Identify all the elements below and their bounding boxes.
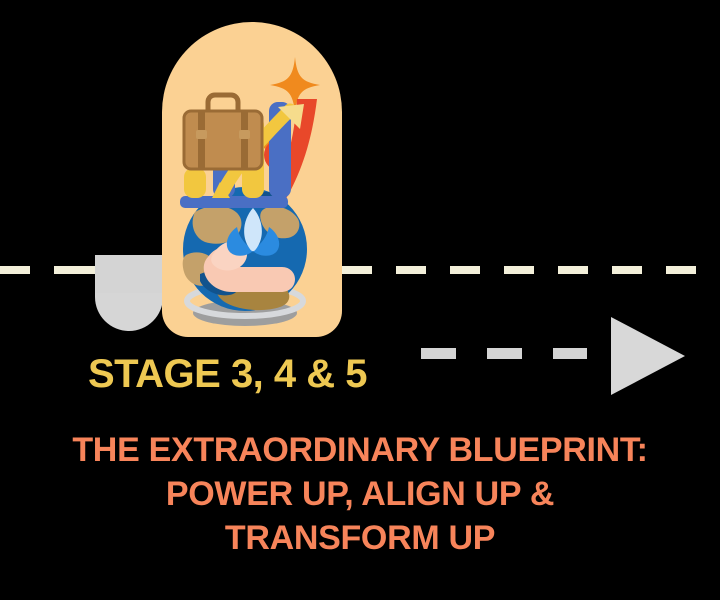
headline-line-1: THE EXTRAORDINARY BLUEPRINT: (0, 428, 720, 472)
gray-dash-2 (487, 348, 522, 359)
stage-illustration-card (162, 22, 342, 337)
headline-line-3: TRANSFORM UP (0, 516, 720, 560)
gray-dash-1 (421, 348, 456, 359)
headline: THE EXTRAORDINARY BLUEPRINT: POWER UP, A… (0, 428, 720, 560)
forward-arrow-icon (611, 317, 685, 395)
gray-dash-3 (553, 348, 587, 359)
globe-briefcase-growth-illustration (162, 22, 342, 337)
stage-label: STAGE 3, 4 & 5 (88, 352, 367, 397)
slide-canvas: STAGE 3, 4 & 5 THE EXTRAORDINARY BLUEPRI… (0, 0, 720, 600)
briefcase-icon (184, 95, 262, 169)
headline-line-2: POWER UP, ALIGN UP & (0, 472, 720, 516)
ghost-card-previous-stage-top (95, 255, 163, 293)
